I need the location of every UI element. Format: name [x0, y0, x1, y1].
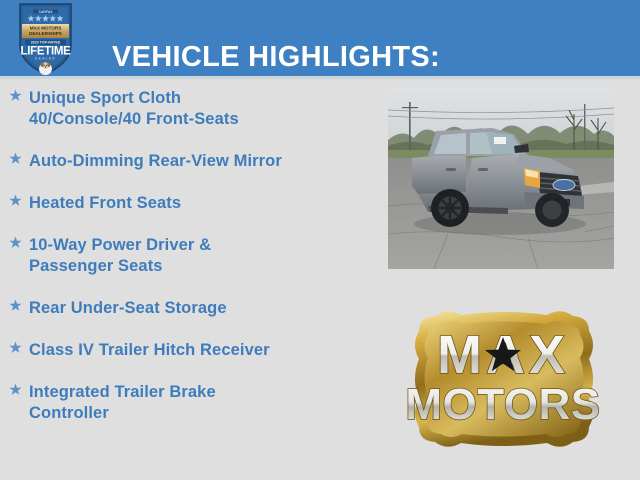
star-bullet-icon	[9, 383, 22, 396]
svg-text:DEALER: DEALER	[35, 57, 56, 61]
highlights-list: Unique Sport Cloth 40/Console/40 Front-S…	[0, 88, 380, 445]
list-item-line: Heated Front Seats	[29, 193, 380, 214]
star-bullet-icon	[9, 299, 22, 312]
list-item: Auto-Dimming Rear-View Mirror	[0, 151, 380, 172]
star-bullet-icon	[9, 152, 22, 165]
list-item-line: 40/Console/40 Front-Seats	[29, 109, 380, 130]
list-item: Rear Under-Seat Storage	[0, 298, 380, 319]
list-item-line: Integrated Trailer Brake	[29, 382, 380, 403]
max-motors-logo: MAX MOTORS	[401, 301, 606, 457]
star-bullet-icon	[9, 194, 22, 207]
list-item-line: Controller	[29, 403, 380, 424]
star-bullet-icon	[9, 341, 22, 354]
list-item-line: Rear Under-Seat Storage	[29, 298, 380, 319]
vehicle-photo	[388, 88, 614, 269]
list-item-line: Passenger Seats	[29, 256, 380, 277]
carfax-top-rated-dealer-badge: CARFAX MAX MOTORS DEALERSHIPS 2023 TOP-R…	[18, 1, 73, 75]
list-item-line: Unique Sport Cloth	[29, 88, 380, 109]
svg-text:2023 TOP-RATED: 2023 TOP-RATED	[31, 41, 61, 45]
svg-text:MOTORS: MOTORS	[405, 380, 600, 429]
svg-text:DEALERSHIPS: DEALERSHIPS	[29, 31, 62, 36]
list-item-line: Auto-Dimming Rear-View Mirror	[29, 151, 380, 172]
list-item-line: Class IV Trailer Hitch Receiver	[29, 340, 380, 361]
header-divider	[0, 76, 640, 79]
list-item: Integrated Trailer Brake Controller	[0, 382, 380, 424]
svg-text:MAX MOTORS: MAX MOTORS	[30, 26, 62, 31]
star-bullet-icon	[9, 236, 22, 249]
list-item: 10-Way Power Driver & Passenger Seats	[0, 235, 380, 277]
star-bullet-icon	[9, 89, 22, 102]
list-item-line: 10-Way Power Driver &	[29, 235, 380, 256]
page-title: VEHICLE HIGHLIGHTS:	[112, 41, 440, 73]
list-item: Class IV Trailer Hitch Receiver	[0, 340, 380, 361]
vehicle-highlights-slide: CARFAX MAX MOTORS DEALERSHIPS 2023 TOP-R…	[0, 0, 640, 480]
svg-text:CARFAX: CARFAX	[39, 10, 54, 14]
list-item: Heated Front Seats	[0, 193, 380, 214]
list-item: Unique Sport Cloth 40/Console/40 Front-S…	[0, 88, 380, 130]
